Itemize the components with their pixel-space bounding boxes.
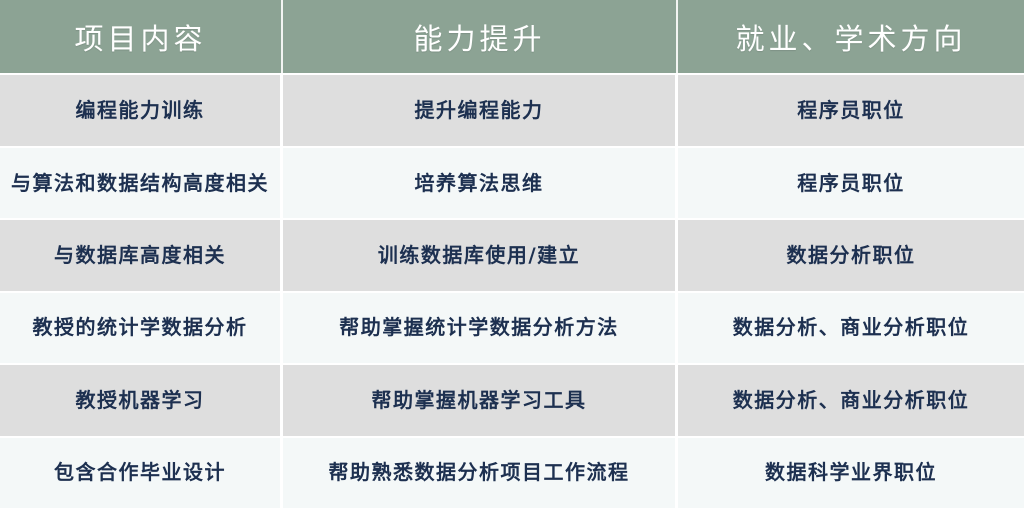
column-header-label: 就业、学术方向 <box>735 16 966 58</box>
table-row: 编程能力训练 提升编程能力 程序员职位 <box>0 75 1024 145</box>
table-row: 包含合作毕业设计 帮助熟悉数据分析项目工作流程 数据科学业界职位 <box>0 438 1024 508</box>
cell-project-content: 编程能力训练 <box>0 75 283 145</box>
column-header-label: 能力提升 <box>413 16 545 58</box>
cell-text: 帮助掌握统计学数据分析方法 <box>339 313 619 342</box>
cell-text: 与算法和数据结构高度相关 <box>11 169 269 198</box>
table-header-row: 项目内容 能力提升 就业、学术方向 <box>0 0 1024 73</box>
table-row: 与算法和数据结构高度相关 培养算法思维 程序员职位 <box>0 148 1024 218</box>
cell-text: 培养算法思维 <box>415 169 544 198</box>
cell-career-direction: 数据分析、商业分析职位 <box>678 365 1024 435</box>
cell-text: 编程能力训练 <box>76 96 205 125</box>
cell-text: 帮助熟悉数据分析项目工作流程 <box>329 458 630 487</box>
cell-text: 教授机器学习 <box>76 386 205 415</box>
column-header-career-academic-direction: 就业、学术方向 <box>678 0 1024 73</box>
cell-text: 数据分析、商业分析职位 <box>733 386 970 415</box>
cell-ability-improvement: 训练数据库使用/建立 <box>283 220 678 290</box>
cell-career-direction: 数据科学业界职位 <box>678 438 1024 508</box>
cell-project-content: 与数据库高度相关 <box>0 220 283 290</box>
cell-ability-improvement: 帮助熟悉数据分析项目工作流程 <box>283 438 678 508</box>
cell-ability-improvement: 提升编程能力 <box>283 75 678 145</box>
cell-ability-improvement: 帮助掌握机器学习工具 <box>283 365 678 435</box>
cell-career-direction: 数据分析职位 <box>678 220 1024 290</box>
cell-project-content: 教授的统计学数据分析 <box>0 293 283 363</box>
table-row: 与数据库高度相关 训练数据库使用/建立 数据分析职位 <box>0 220 1024 290</box>
cell-text: 数据分析、商业分析职位 <box>733 313 970 342</box>
column-header-project-content: 项目内容 <box>0 0 283 73</box>
cell-text: 数据科学业界职位 <box>765 458 937 487</box>
cell-career-direction: 程序员职位 <box>678 148 1024 218</box>
cell-ability-improvement: 帮助掌握统计学数据分析方法 <box>283 293 678 363</box>
comparison-table: 项目内容 能力提升 就业、学术方向 编程能力训练 提升编程能力 程序员职位 与算… <box>0 0 1024 508</box>
cell-project-content: 包含合作毕业设计 <box>0 438 283 508</box>
cell-text: 程序员职位 <box>797 169 905 198</box>
column-header-label: 项目内容 <box>74 16 206 58</box>
cell-career-direction: 程序员职位 <box>678 75 1024 145</box>
cell-ability-improvement: 培养算法思维 <box>283 148 678 218</box>
cell-career-direction: 数据分析、商业分析职位 <box>678 293 1024 363</box>
cell-project-content: 教授机器学习 <box>0 365 283 435</box>
cell-text: 数据分析职位 <box>787 241 916 270</box>
cell-text: 教授的统计学数据分析 <box>33 313 248 342</box>
table-row: 教授机器学习 帮助掌握机器学习工具 数据分析、商业分析职位 <box>0 365 1024 435</box>
cell-text: 提升编程能力 <box>415 96 544 125</box>
cell-text: 训练数据库使用/建立 <box>378 241 580 270</box>
cell-text: 程序员职位 <box>797 96 905 125</box>
cell-text: 帮助掌握机器学习工具 <box>372 386 587 415</box>
column-header-ability-improvement: 能力提升 <box>283 0 678 73</box>
cell-text: 与数据库高度相关 <box>54 241 226 270</box>
cell-project-content: 与算法和数据结构高度相关 <box>0 148 283 218</box>
table-row: 教授的统计学数据分析 帮助掌握统计学数据分析方法 数据分析、商业分析职位 <box>0 293 1024 363</box>
cell-text: 包含合作毕业设计 <box>54 458 226 487</box>
